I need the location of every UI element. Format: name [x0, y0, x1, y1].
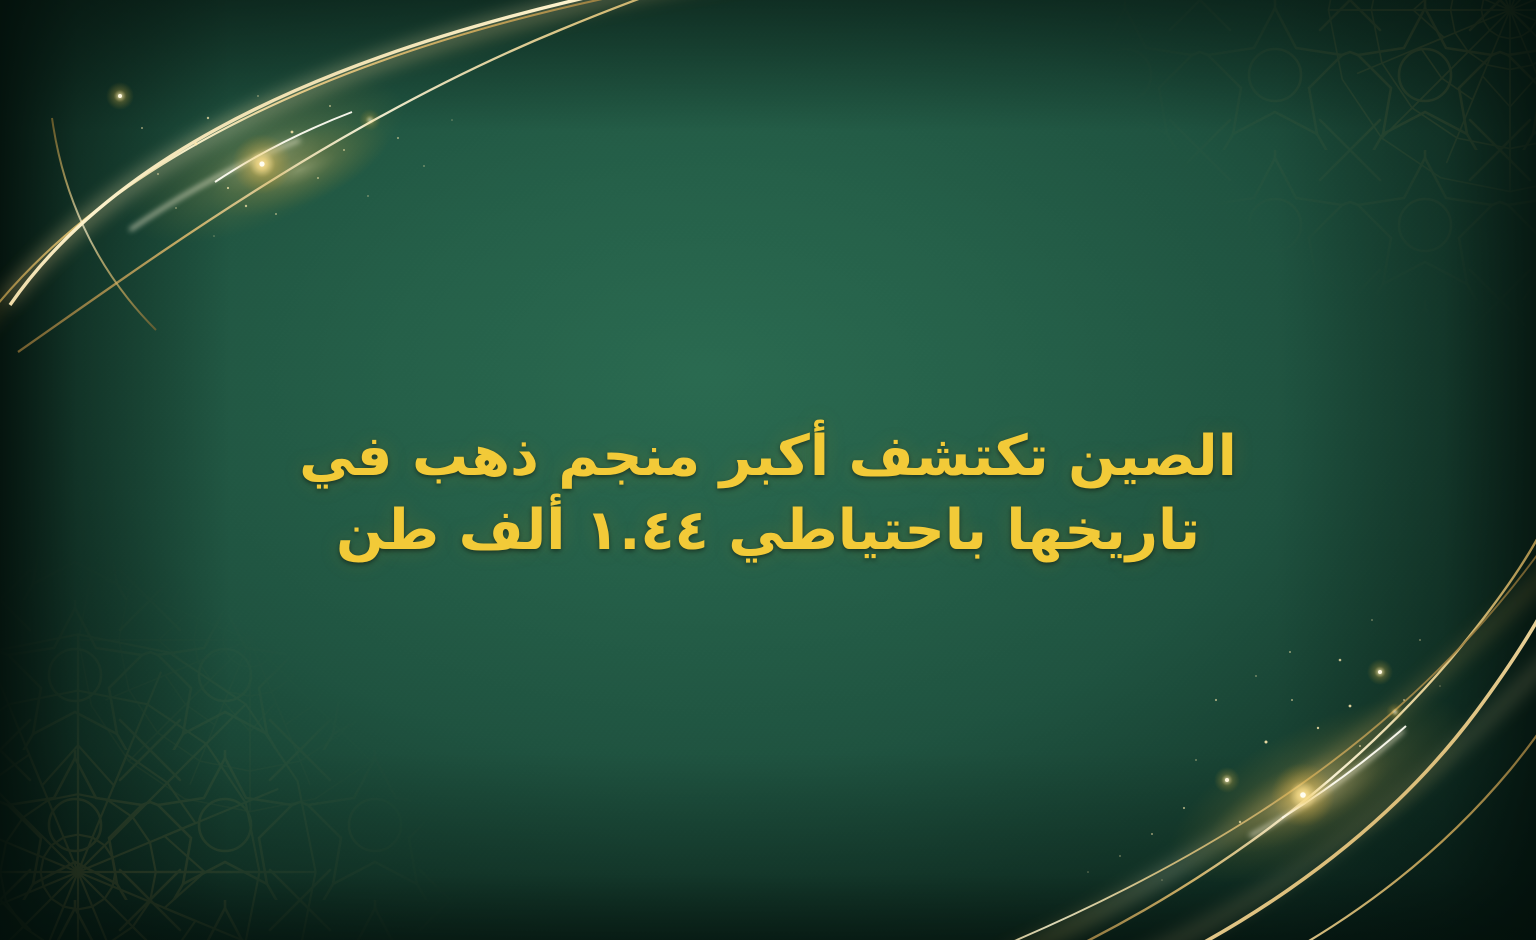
headline-block: الصين تكتشف أكبر منجم ذهب في تاريخها باح… — [0, 420, 1536, 569]
news-banner: الصين تكتشف أكبر منجم ذهب في تاريخها باح… — [0, 0, 1536, 940]
headline-text: الصين تكتشف أكبر منجم ذهب في تاريخها باح… — [238, 420, 1298, 569]
